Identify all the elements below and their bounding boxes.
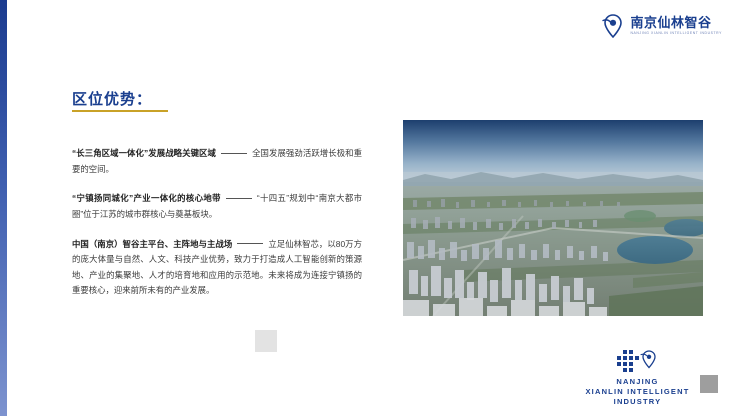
page-title: 区位优势： xyxy=(72,88,152,109)
header-logo: 南京仙林智谷 NANJING XIANLIN INTELLIGENT INDUS… xyxy=(602,14,722,38)
paragraph-1: “长三角区域一体化”发展战略关键区域全国发展强劲活跃增长极和重要的空间。 xyxy=(72,146,362,177)
header-logo-cn: 南京仙林智谷 xyxy=(630,16,722,29)
body-text-column: “长三角区域一体化”发展战略关键区域全国发展强劲活跃增长极和重要的空间。 “宁镇… xyxy=(72,138,362,313)
paragraph-2-dash xyxy=(226,198,252,199)
paragraph-2: “宁镇扬同城化”产业一体化的核心地带“十四五”规划中“南京大都市圈”位于江苏的城… xyxy=(72,191,362,222)
footer-logo-line1: NANJING xyxy=(575,377,700,387)
title-underline xyxy=(72,110,168,112)
header-logo-en: NANJING XIANLIN INTELLIGENT INDUSTRY xyxy=(630,32,722,35)
header-logo-text: 南京仙林智谷 NANJING XIANLIN INTELLIGENT INDUS… xyxy=(630,16,722,35)
paragraph-3-lead: 中国（南京）智谷主平台、主阵地与主战场 xyxy=(72,239,232,249)
left-accent-bar xyxy=(0,0,7,416)
footer-logo-line3: INDUSTRY xyxy=(575,397,700,407)
paragraph-3: 中国（南京）智谷主平台、主阵地与主战场立足仙林智芯，以80万方的庞大体量与自然、… xyxy=(72,237,362,299)
slide-root: 南京仙林智谷 NANJING XIANLIN INTELLIGENT INDUS… xyxy=(0,0,740,416)
paragraph-1-dash xyxy=(221,153,247,154)
nanjing-xianlin-mark-icon xyxy=(575,348,700,374)
footer-logo-line2: XIANLIN INTELLIGENT xyxy=(575,387,700,397)
paragraph-3-dash xyxy=(237,243,263,244)
footer-logo: NANJING XIANLIN INTELLIGENT INDUSTRY xyxy=(575,348,700,407)
location-pin-icon xyxy=(602,14,624,38)
decorative-square-light xyxy=(255,330,277,352)
aerial-cityscape-photo xyxy=(403,120,703,316)
decorative-square-dark xyxy=(700,375,718,393)
paragraph-2-lead: “宁镇扬同城化”产业一体化的核心地带 xyxy=(72,193,221,203)
paragraph-1-lead: “长三角区域一体化”发展战略关键区域 xyxy=(72,148,216,158)
